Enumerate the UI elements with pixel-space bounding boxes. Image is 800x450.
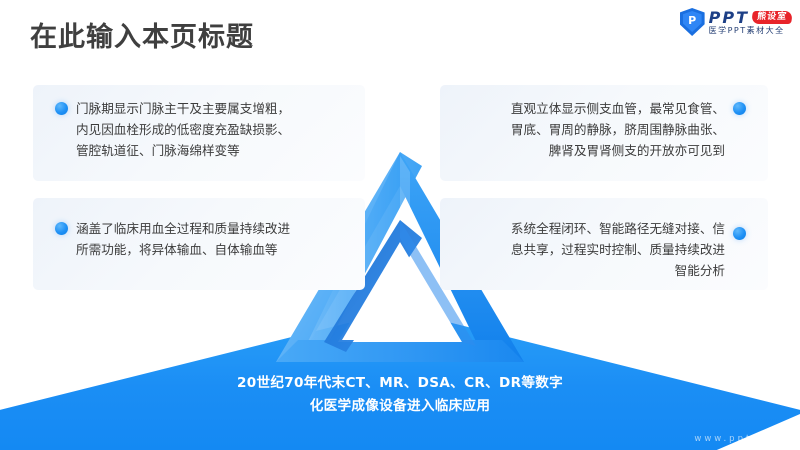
logo-badge: 熊设室 — [751, 11, 793, 24]
bullet-dot-icon-top-right — [733, 102, 746, 115]
card-text-top-right: 直观立体显示侧支血管，最常见食管、 胃底、胃周的静脉，脐周围静脉曲张、 脾肾及胃… — [470, 98, 725, 161]
slide: 在此输入本页标题 P PPT 熊设室 医学PPT素材大全 — [0, 0, 800, 450]
card-text-top-left: 门脉期显示门脉主干及主要属支增粗， 内见因血栓形成的低密度充盈缺损影、 管腔轨道… — [76, 98, 346, 161]
band-caption: 20世纪70年代末CT、MR、DSA、CR、DR等数字 化医学成像设备进入临床应… — [0, 372, 800, 418]
logo-primary-row: PPT 熊设室 — [709, 10, 792, 26]
watermark: www.ppter.cn — [694, 434, 788, 444]
logo-tagline: 医学PPT素材大全 — [709, 27, 792, 35]
bullet-dot-icon-bottom-left — [55, 222, 68, 235]
logo-text: PPT 熊设室 医学PPT素材大全 — [709, 10, 792, 35]
shield-letter: P — [688, 15, 696, 26]
card-text-bottom-right: 系统全程闭环、智能路径无缝对接、信 息共享，过程实时控制、质量持续改进 智能分析 — [470, 218, 725, 281]
logo-brand: PPT — [709, 10, 749, 26]
bullet-dot-icon-top-left — [55, 102, 68, 115]
card-text-bottom-left: 涵盖了临床用血全过程和质量持续改进 所需功能，将异体输血、自体输血等 — [76, 218, 346, 260]
brand-logo[interactable]: P PPT 熊设室 医学PPT素材大全 — [680, 7, 792, 37]
bullet-dot-icon-bottom-right — [733, 227, 746, 240]
shield-icon: P — [680, 8, 705, 36]
page-title: 在此输入本页标题 — [30, 20, 254, 56]
